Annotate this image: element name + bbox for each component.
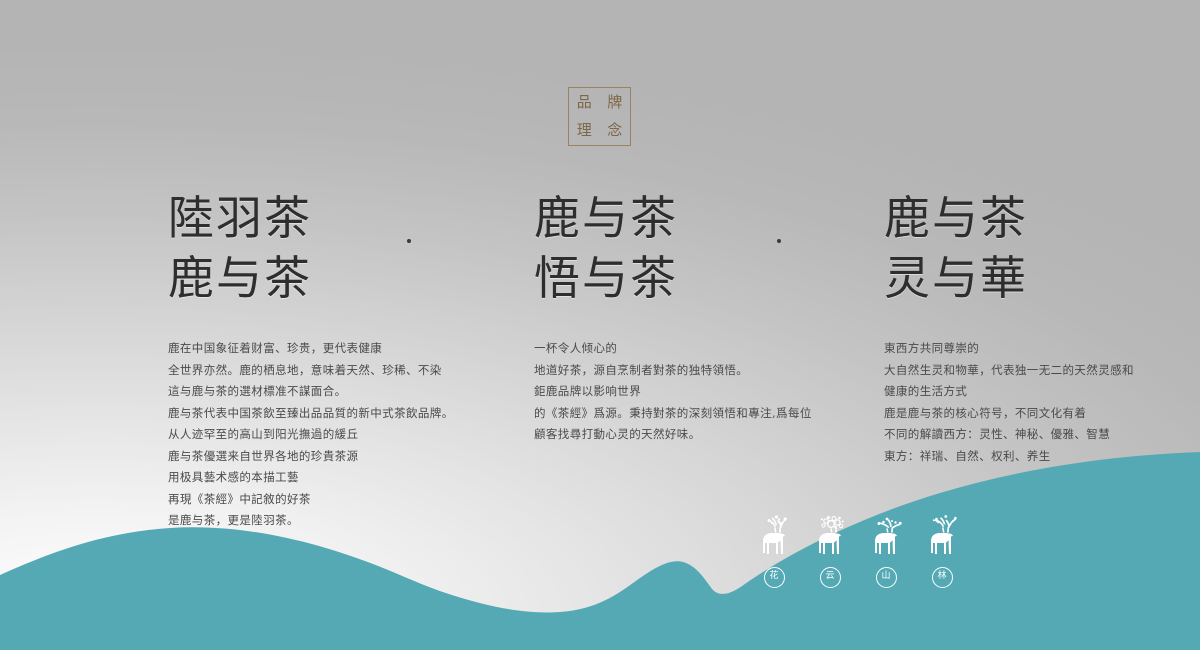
column-3-headline: 鹿与茶 灵与華 (884, 188, 1184, 308)
content-column-2: 鹿与茶 悟与茶 一杯令人倾心的 地道好茶，源自烹制者對茶的独特領悟。 鉅鹿品牌以… (534, 188, 834, 446)
emblem-cloud: 云 (808, 513, 852, 588)
column-1-line-3: 這与鹿与茶的選材標准不謀面合。 (168, 381, 468, 403)
brand-mark-char-2: 牌 (607, 95, 622, 110)
column-2-paragraph: 一杯令人倾心的 地道好茶，源自烹制者對茶的独特領悟。 鉅鹿品牌以影响世界 的《茶… (534, 338, 834, 446)
emblem-forest: 林 (920, 513, 964, 588)
deer-mountain-icon (866, 513, 906, 559)
column-2-line-3: 鉅鹿品牌以影响世界 (534, 381, 834, 403)
emblem-mountain: 山 (864, 513, 908, 588)
content-column-1: 陸羽茶 鹿与茶 鹿在中国象征着财富、珍贵，更代表健康 全世界亦然。鹿的栖息地，意… (168, 188, 468, 532)
column-3-line-4: 鹿是鹿与茶的核心符号，不同文化有着 (884, 403, 1184, 425)
emblem-tag-forest: 林 (932, 567, 953, 588)
column-1-line-6: 鹿与茶優選来自世界各地的珍貴茶源 (168, 446, 468, 468)
column-3-line-6: 東方：祥瑞、自然、权利、养生 (884, 446, 1184, 468)
column-3-line-2: 大自然生灵和物華，代表独一无二的天然灵感和 (884, 360, 1184, 382)
brand-mark-char-4: 念 (607, 123, 622, 138)
brand-mark-char-3: 理 (577, 123, 592, 138)
column-1-line-4: 鹿与茶代表中国茶飲至臻出品品質的新中式茶飲品牌。 (168, 403, 468, 425)
deer-flower-icon (754, 513, 794, 559)
emblem-flower: 花 (752, 513, 796, 588)
column-1-line-1: 鹿在中国象征着财富、珍贵，更代表健康 (168, 338, 468, 360)
deer-emblem-row: 花 (752, 513, 964, 601)
deer-cloud-icon (810, 513, 850, 559)
column-1-line-9: 是鹿与茶，更是陸羽茶。 (168, 510, 468, 532)
brand-mark-box: 品 牌 理 念 (568, 87, 631, 146)
column-1-paragraph: 鹿在中国象征着财富、珍贵，更代表健康 全世界亦然。鹿的栖息地，意味着天然、珍稀、… (168, 338, 468, 532)
column-1-headline-line-1: 陸羽茶 (168, 191, 312, 245)
column-3-headline-line-1: 鹿与茶 (884, 191, 1028, 245)
column-1-line-5: 从人迹罕至的高山到阳光撫過的緩丘 (168, 424, 468, 446)
column-3-headline-line-2: 灵与華 (884, 248, 1184, 308)
column-2-headline-line-1: 鹿与茶 (534, 191, 678, 245)
content-column-3: 鹿与茶 灵与華 東西方共同尊崇的 大自然生灵和物華，代表独一无二的天然灵感和 健… (884, 188, 1184, 467)
emblem-tag-cloud: 云 (820, 567, 841, 588)
column-2-line-2: 地道好茶，源自烹制者對茶的独特領悟。 (534, 360, 834, 382)
brand-mark-char-1: 品 (577, 95, 592, 110)
emblem-tag-mountain: 山 (876, 567, 897, 588)
column-3-paragraph: 東西方共同尊崇的 大自然生灵和物華，代表独一无二的天然灵感和 健康的生活方式 鹿… (884, 338, 1184, 467)
column-1-line-7: 用极具藝术感的本描工藝 (168, 467, 468, 489)
column-1-line-8: 再現《茶經》中記敘的好茶 (168, 489, 468, 511)
column-1-line-2: 全世界亦然。鹿的栖息地，意味着天然、珍稀、不染 (168, 360, 468, 382)
brand-philosophy-poster: 品 牌 理 念 陸羽茶 鹿与茶 鹿在中国象征着财富、珍贵，更代表健康 全世界亦然… (0, 0, 1200, 650)
column-2-line-1: 一杯令人倾心的 (534, 338, 834, 360)
column-3-line-3: 健康的生活方式 (884, 381, 1184, 403)
emblem-tag-flower: 花 (764, 567, 785, 588)
column-1-headline: 陸羽茶 鹿与茶 (168, 188, 468, 308)
column-2-line-4: 的《茶經》爲源。秉持對茶的深刻領悟和專注,爲每位 (534, 403, 834, 425)
column-3-line-1: 東西方共同尊崇的 (884, 338, 1184, 360)
column-2-headline: 鹿与茶 悟与茶 (534, 188, 834, 308)
deer-forest-icon (922, 513, 962, 559)
column-3-line-5: 不同的解讀西方：灵性、神秘、優雅、智慧 (884, 424, 1184, 446)
separator-dot-2 (777, 239, 781, 243)
separator-dot-1 (407, 239, 411, 243)
column-2-line-5: 顧客找尋打動心灵的天然好味。 (534, 424, 834, 446)
column-2-headline-line-2: 悟与茶 (534, 248, 834, 308)
column-1-headline-line-2: 鹿与茶 (168, 248, 468, 308)
